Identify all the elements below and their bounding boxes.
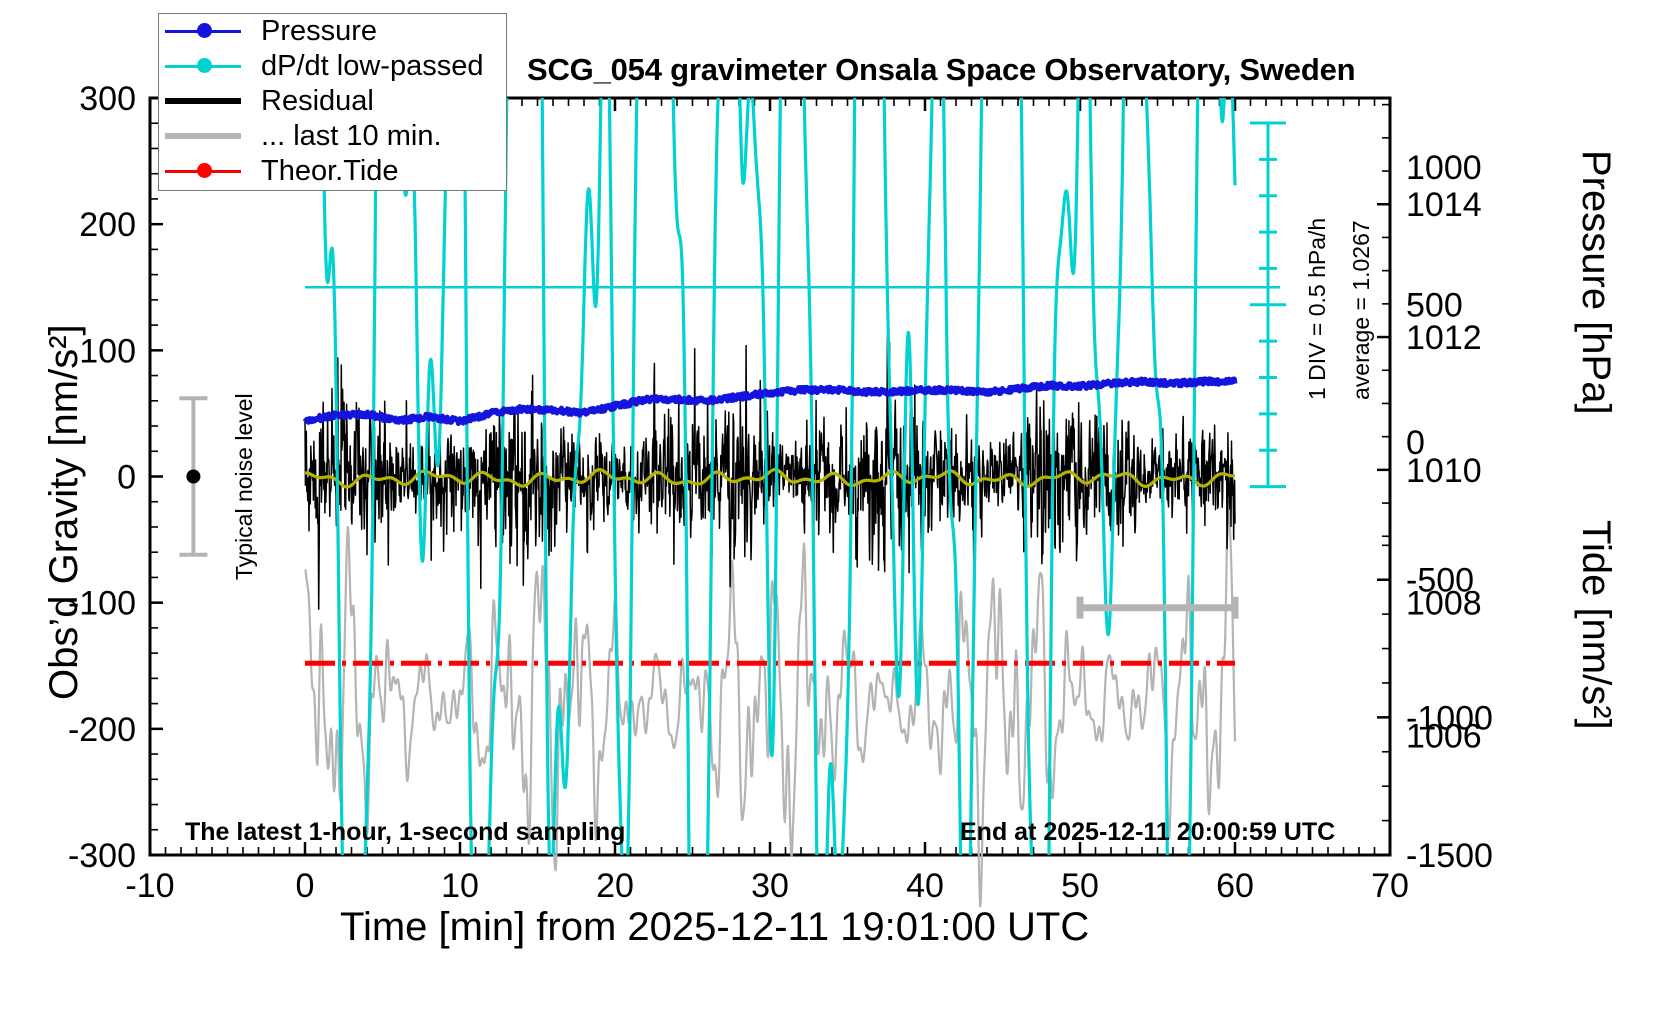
chart-title: SCG_054 gravimeter Onsala Space Observat… [527,52,1355,88]
y-right-tide-tick-label: 1000 [1406,149,1482,187]
x-tick-label: 50 [1061,867,1099,905]
y-right-tide-tick-label: 0 [1406,424,1425,462]
y-left-tick-label: 200 [79,206,136,244]
y-right-tide-tick-label: 500 [1406,286,1463,324]
y-axis-pressure-title: Pressure [hPa] [1573,150,1618,415]
x-axis-title: Time [min] from 2025-12-11 19:01:00 UTC [340,905,1089,950]
y-axis-left-title: Obs’d Gravity [nm/s²] [42,324,87,700]
legend-item-4: Theor.Tide [159,154,506,189]
x-tick-label: 10 [441,867,479,905]
y-right-tide-tick-label: -1000 [1406,699,1493,737]
x-tick-label: 70 [1371,867,1409,905]
x-tick-label: 30 [751,867,789,905]
legend-swatch-icon [159,84,247,119]
legend-item-0: Pressure [159,14,506,49]
y-right-pressure-tick-label: 1012 [1406,319,1482,357]
y-left-tick-label: 100 [79,332,136,370]
y-left-tick-label: 300 [79,80,136,118]
x-tick-label: 40 [906,867,944,905]
legend-swatch-icon [159,49,247,84]
legend-label: Residual [247,85,374,118]
x-tick-label: 60 [1216,867,1254,905]
legend-item-1: dP/dt low-passed [159,49,506,84]
y-left-tick-label: -200 [68,711,136,749]
legend-item-2: Residual [159,84,506,119]
x-tick-label: 20 [596,867,634,905]
y-right-tide-tick-label: -1500 [1406,837,1493,875]
legend-label: dP/dt low-passed [247,50,483,83]
footer-left-note: The latest 1-hour, 1-second sampling [185,818,625,847]
legend-label: Pressure [247,15,377,48]
y-left-tick-label: 0 [117,459,136,497]
legend-item-3: ... last 10 min. [159,119,506,154]
y-axis-tide-title: Tide [nm/s²] [1573,520,1618,730]
legend-label: Theor.Tide [247,155,399,188]
legend-swatch-icon [159,14,247,49]
legend-swatch-icon [159,154,247,189]
y-right-pressure-tick-label: 1014 [1406,186,1482,224]
legend-swatch-icon [159,119,247,154]
x-tick-label: 0 [296,867,315,905]
scale-average-label: average = 1.0267 [1348,220,1375,400]
noise-level-label: Typical noise level [231,393,258,580]
scale-div-label: 1 DIV = 0.5 hPa/h [1304,218,1331,400]
footer-right-note: End at 2025-12-11 20:00:59 UTC [960,818,1335,847]
legend-label: ... last 10 min. [247,120,442,153]
y-right-tide-tick-label: -500 [1406,562,1474,600]
chart-legend: PressuredP/dt low-passedResidual... last… [158,13,507,191]
y-left-tick-label: -300 [68,837,136,875]
